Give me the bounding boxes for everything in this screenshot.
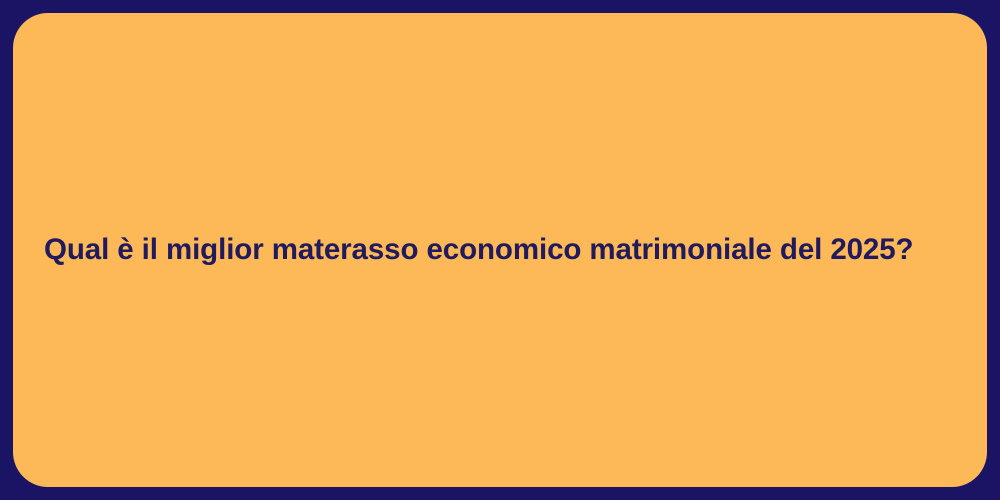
headline-text: Qual è il miglior materasso economico ma…: [13, 232, 913, 267]
card-frame: Qual è il miglior materasso economico ma…: [0, 0, 1000, 500]
card-panel: Qual è il miglior materasso economico ma…: [13, 13, 987, 487]
